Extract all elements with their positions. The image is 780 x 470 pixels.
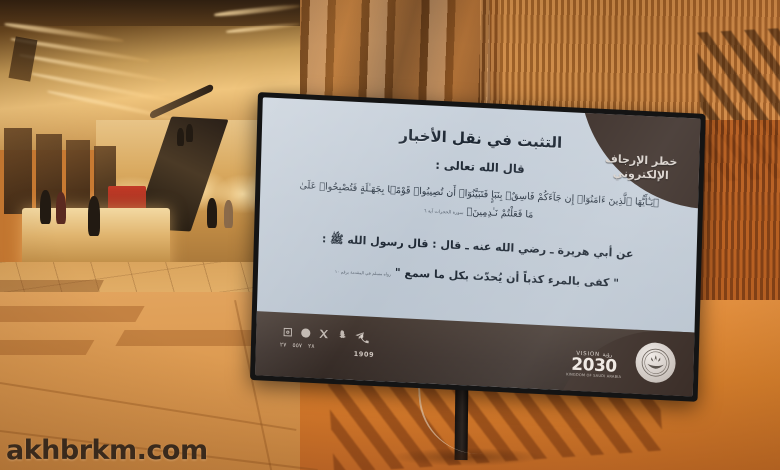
tv-stand-shadow — [392, 448, 542, 466]
vision-2030-logo: VISION رؤية 2030 KINGDOM OF SAUDI ARABIA — [566, 350, 622, 379]
shopper — [186, 124, 193, 142]
hadith-text-wrap: " كفى بالمرء كذباً أن يُحدّث بكل ما سمع … — [286, 261, 668, 293]
quran-reference: سورة الحجرات آية ٦ — [424, 209, 464, 216]
hadith-reference: رواه مسلم في المقدمة برقم ١٠ — [335, 269, 391, 277]
facebook-icon[interactable] — [300, 327, 311, 339]
shopper — [224, 200, 233, 228]
digital-signage-tv[interactable]: خطر الإرجاف الإلكتروني التثبت في نقل الأ… — [250, 92, 706, 402]
phone-number: 1909 — [354, 350, 375, 359]
tv-screen: خطر الإرجاف الإلكتروني التثبت في نقل الأ… — [255, 97, 700, 396]
vision-label-ar: رؤية — [602, 352, 612, 358]
slide-content: التثبت في نقل الأخبار قال الله تعالى : ﴿… — [257, 97, 701, 332]
hadith-text: " كفى بالمرء كذباً أن يُحدّث بكل ما سمع … — [395, 266, 619, 290]
shopper — [207, 198, 217, 228]
floor-band — [0, 340, 94, 355]
phone-icon — [359, 329, 371, 349]
social-icon-row — [282, 326, 365, 341]
handle-part-1: ٥٥٧ — [292, 342, 302, 349]
phone-block: 1909 — [354, 329, 375, 359]
site-watermark: akhbrkm.com — [6, 435, 208, 466]
snapchat-icon[interactable] — [336, 329, 347, 341]
shopper — [177, 128, 184, 146]
shopper — [56, 192, 66, 224]
tv-bezel: خطر الإرجاف الإلكتروني التثبت في نقل الأ… — [250, 92, 706, 402]
vision-label-en: VISION — [576, 351, 600, 358]
screenshot-root: خطر الإرجاف الإلكتروني التثبت في نقل الأ… — [0, 0, 780, 470]
floor-band — [0, 306, 145, 322]
shopper — [40, 190, 51, 224]
x-twitter-icon[interactable] — [318, 328, 329, 340]
social-handle: ٢٨ ٥٥٧ ٢٧ — [280, 341, 315, 350]
quran-verse: ﴿يَـٰٓأَيُّهَا ٱلَّذِينَ ءَامَنُوٓا۟ إِن… — [294, 177, 665, 231]
instagram-icon[interactable] — [282, 326, 293, 338]
quran-verse-text: ﴿يَـٰٓأَيُّهَا ٱلَّذِينَ ءَامَنُوٓا۟ إِن… — [299, 180, 659, 220]
handle-part-2: ٢٧ — [280, 341, 287, 348]
hadith-narrator: عن أبي هريرة ـ رضي الله عنه ـ قال : قال … — [259, 229, 697, 266]
shopper — [88, 196, 100, 236]
handle-part-0: ٢٨ — [308, 343, 315, 350]
